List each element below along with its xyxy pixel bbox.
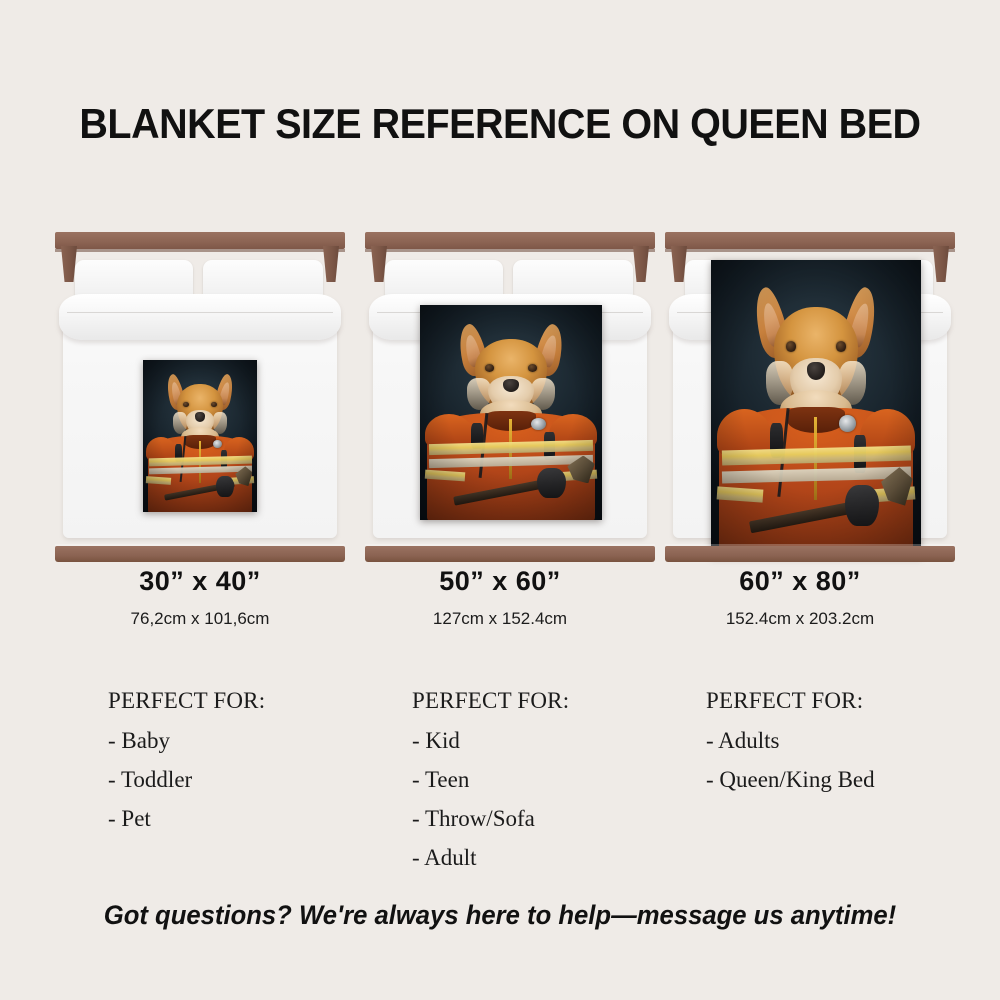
bedding [63, 250, 337, 538]
perfect-for-small: PERFECT FOR: - Baby - Toddler - Pet [108, 688, 408, 845]
bed-mockup-large [665, 232, 955, 562]
bed-mockup-row [0, 232, 1000, 562]
blanket-artwork-small [143, 360, 257, 512]
list-item: - Pet [108, 806, 408, 832]
bed-mockup-medium [365, 232, 655, 562]
footboard-rail-icon [365, 546, 655, 562]
size-label-small: 30” x 40” 76,2cm x 101,6cm [40, 566, 360, 629]
artwork-corgi-firefighter [420, 305, 602, 520]
perfect-for-heading: PERFECT FOR: [108, 688, 408, 714]
size-inches: 60” x 80” [640, 566, 960, 597]
size-centimeters: 76,2cm x 101,6cm [40, 609, 360, 629]
list-item: - Queen/King Bed [706, 767, 1000, 793]
artwork-vignette [143, 360, 257, 512]
list-item: - Adults [706, 728, 1000, 754]
headboard-rail-icon [665, 232, 955, 249]
size-inches: 50” x 60” [340, 566, 660, 597]
list-item: - Adult [412, 845, 712, 871]
footboard-rail-icon [55, 546, 345, 562]
artwork-corgi-firefighter [143, 360, 257, 512]
list-item: - Toddler [108, 767, 408, 793]
list-item: - Baby [108, 728, 408, 754]
headboard-rail-icon [55, 232, 345, 249]
footboard-rail-icon [665, 546, 955, 562]
bedding [373, 250, 647, 538]
size-centimeters: 152.4cm x 203.2cm [640, 609, 960, 629]
blanket-artwork-medium [420, 305, 602, 520]
size-label-medium: 50” x 60” 127cm x 152.4cm [340, 566, 660, 629]
size-label-large: 60” x 80” 152.4cm x 203.2cm [640, 566, 960, 629]
footer-tagline: Got questions? We're always here to help… [25, 900, 975, 931]
page-title: BLANKET SIZE REFERENCE ON QUEEN BED [30, 100, 970, 148]
list-item: - Teen [412, 767, 712, 793]
artwork-vignette [420, 305, 602, 520]
list-item: - Kid [412, 728, 712, 754]
perfect-for-medium: PERFECT FOR: - Kid - Teen - Throw/Sofa -… [412, 688, 712, 884]
perfect-for-large: PERFECT FOR: - Adults - Queen/King Bed [706, 688, 1000, 806]
list-item: - Throw/Sofa [412, 806, 712, 832]
perfect-for-heading: PERFECT FOR: [706, 688, 1000, 714]
size-inches: 30” x 40” [40, 566, 360, 597]
blanket-size-reference-page: BLANKET SIZE REFERENCE ON QUEEN BED [0, 0, 1000, 1000]
artwork-vignette [711, 260, 921, 556]
bedding [673, 250, 947, 538]
perfect-for-heading: PERFECT FOR: [412, 688, 712, 714]
bed-mockup-small [55, 232, 345, 562]
headboard-rail-icon [365, 232, 655, 249]
size-centimeters: 127cm x 152.4cm [340, 609, 660, 629]
duvet-fold [59, 294, 341, 340]
blanket-artwork-large [711, 260, 921, 556]
artwork-corgi-firefighter [711, 260, 921, 556]
